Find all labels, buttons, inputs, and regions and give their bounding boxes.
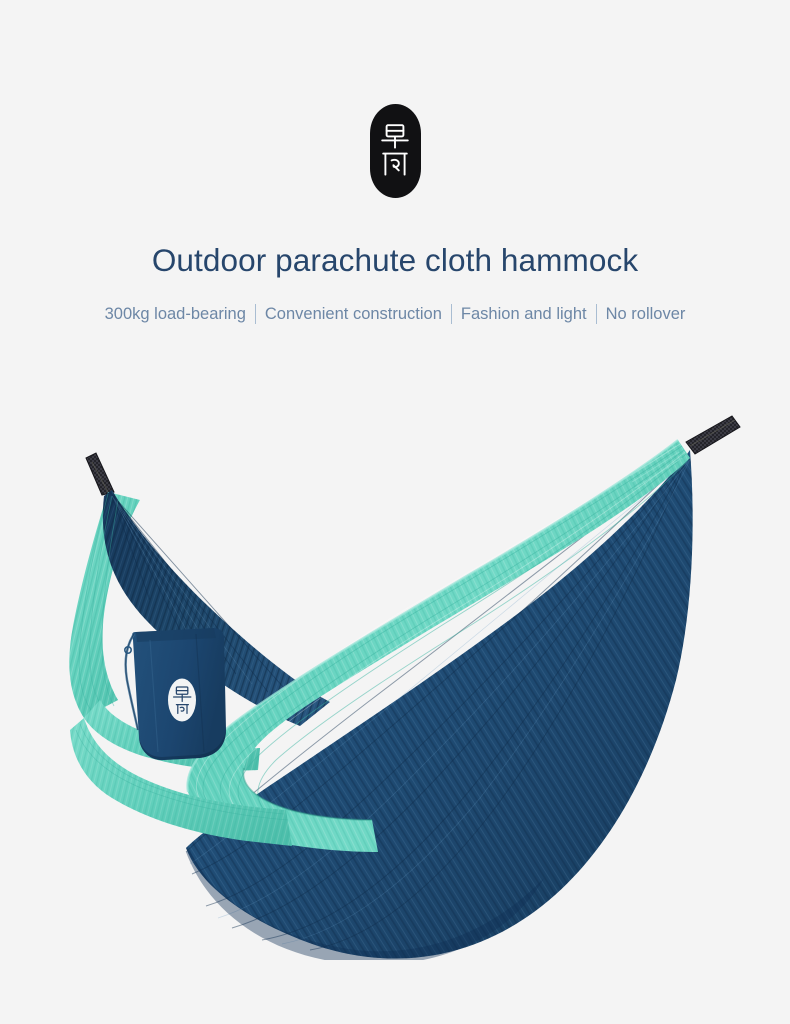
feature-item-fashion-light: Fashion and light <box>461 301 587 327</box>
product-image <box>0 400 790 960</box>
pocket-brand-patch <box>168 679 196 722</box>
feature-separator <box>255 304 256 324</box>
brand-logo-container <box>0 104 790 198</box>
hammock-storage-pocket <box>125 626 232 760</box>
hammock-strap-right <box>686 416 740 454</box>
brand-logo-icon <box>370 104 421 198</box>
page-title: Outdoor parachute cloth hammock <box>0 238 790 282</box>
feature-list: 300kg load-bearing Convenient constructi… <box>0 301 790 327</box>
product-hero-page: Outdoor parachute cloth hammock 300kg lo… <box>0 0 790 1024</box>
hammock-strap-left <box>86 453 114 495</box>
feature-item-load-bearing: 300kg load-bearing <box>105 301 246 327</box>
brand-characters-icon <box>378 122 412 180</box>
feature-separator <box>451 304 452 324</box>
feature-separator <box>596 304 597 324</box>
feature-item-no-rollover: No rollover <box>606 301 686 327</box>
feature-item-construction: Convenient construction <box>265 301 442 327</box>
